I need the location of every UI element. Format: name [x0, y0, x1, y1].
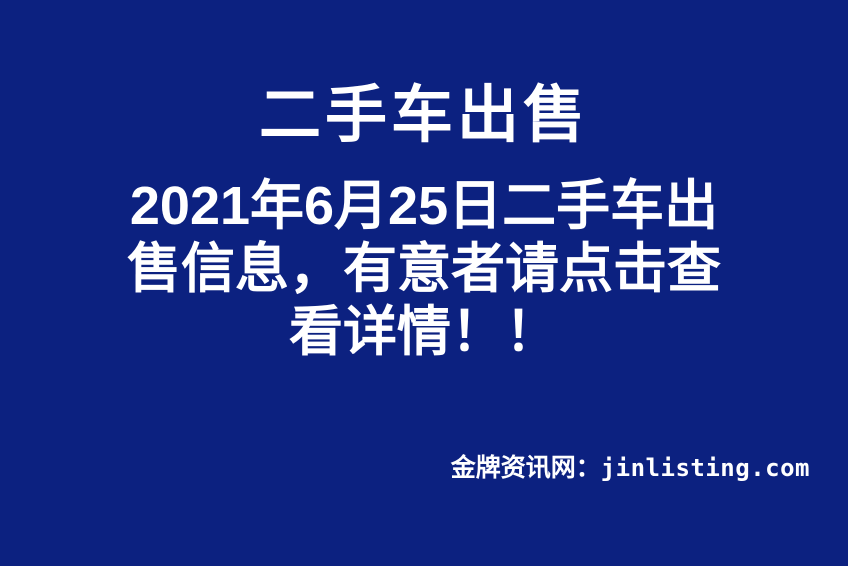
body-line-1: 2021年6月25日二手车出	[110, 175, 738, 238]
source-credit: 金牌资讯网：jinlisting.com	[0, 448, 848, 484]
poster-canvas: 二手车出售 2021年6月25日二手车出 售信息，有意者请点击查 看详情！！ 金…	[0, 0, 848, 566]
body-line-2: 售信息，有意者请点击查	[110, 238, 738, 301]
page-title: 二手车出售	[0, 80, 848, 152]
body-line-3: 看详情！！	[110, 301, 738, 364]
source-label: 金牌资讯网：	[451, 454, 601, 482]
poster-body-text: 2021年6月25日二手车出 售信息，有意者请点击查 看详情！！	[110, 175, 738, 364]
source-url: jinlisting.com	[601, 454, 810, 482]
